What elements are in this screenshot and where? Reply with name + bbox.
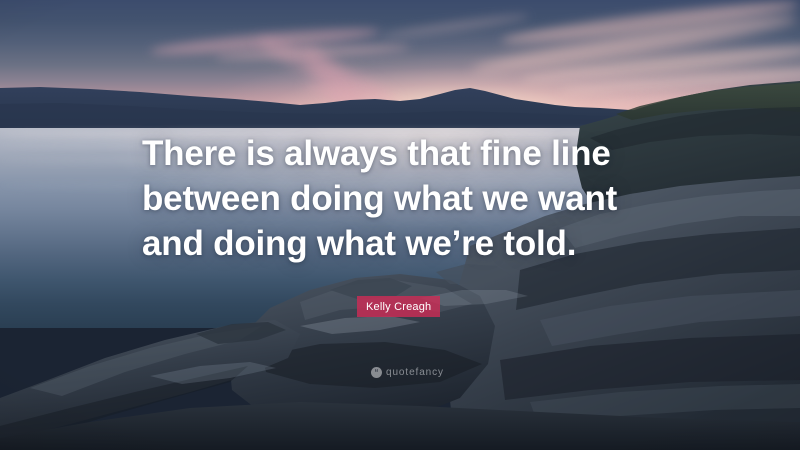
- watermark: “ quotefancy: [371, 367, 444, 378]
- author-badge: Kelly Creagh: [357, 296, 440, 317]
- quote-line-1: There is always that fine line: [142, 131, 702, 176]
- watermark-text: quotefancy: [386, 367, 444, 378]
- quote-wallpaper: There is always that fine line between d…: [0, 0, 800, 450]
- quote-mark-logo-icon: “: [371, 367, 382, 378]
- quote-line-3: and doing what we’re told.: [142, 221, 702, 266]
- quote-line-2: between doing what we want: [142, 176, 702, 221]
- author-name: Kelly Creagh: [366, 301, 431, 313]
- quote-text: There is always that fine line between d…: [142, 131, 702, 266]
